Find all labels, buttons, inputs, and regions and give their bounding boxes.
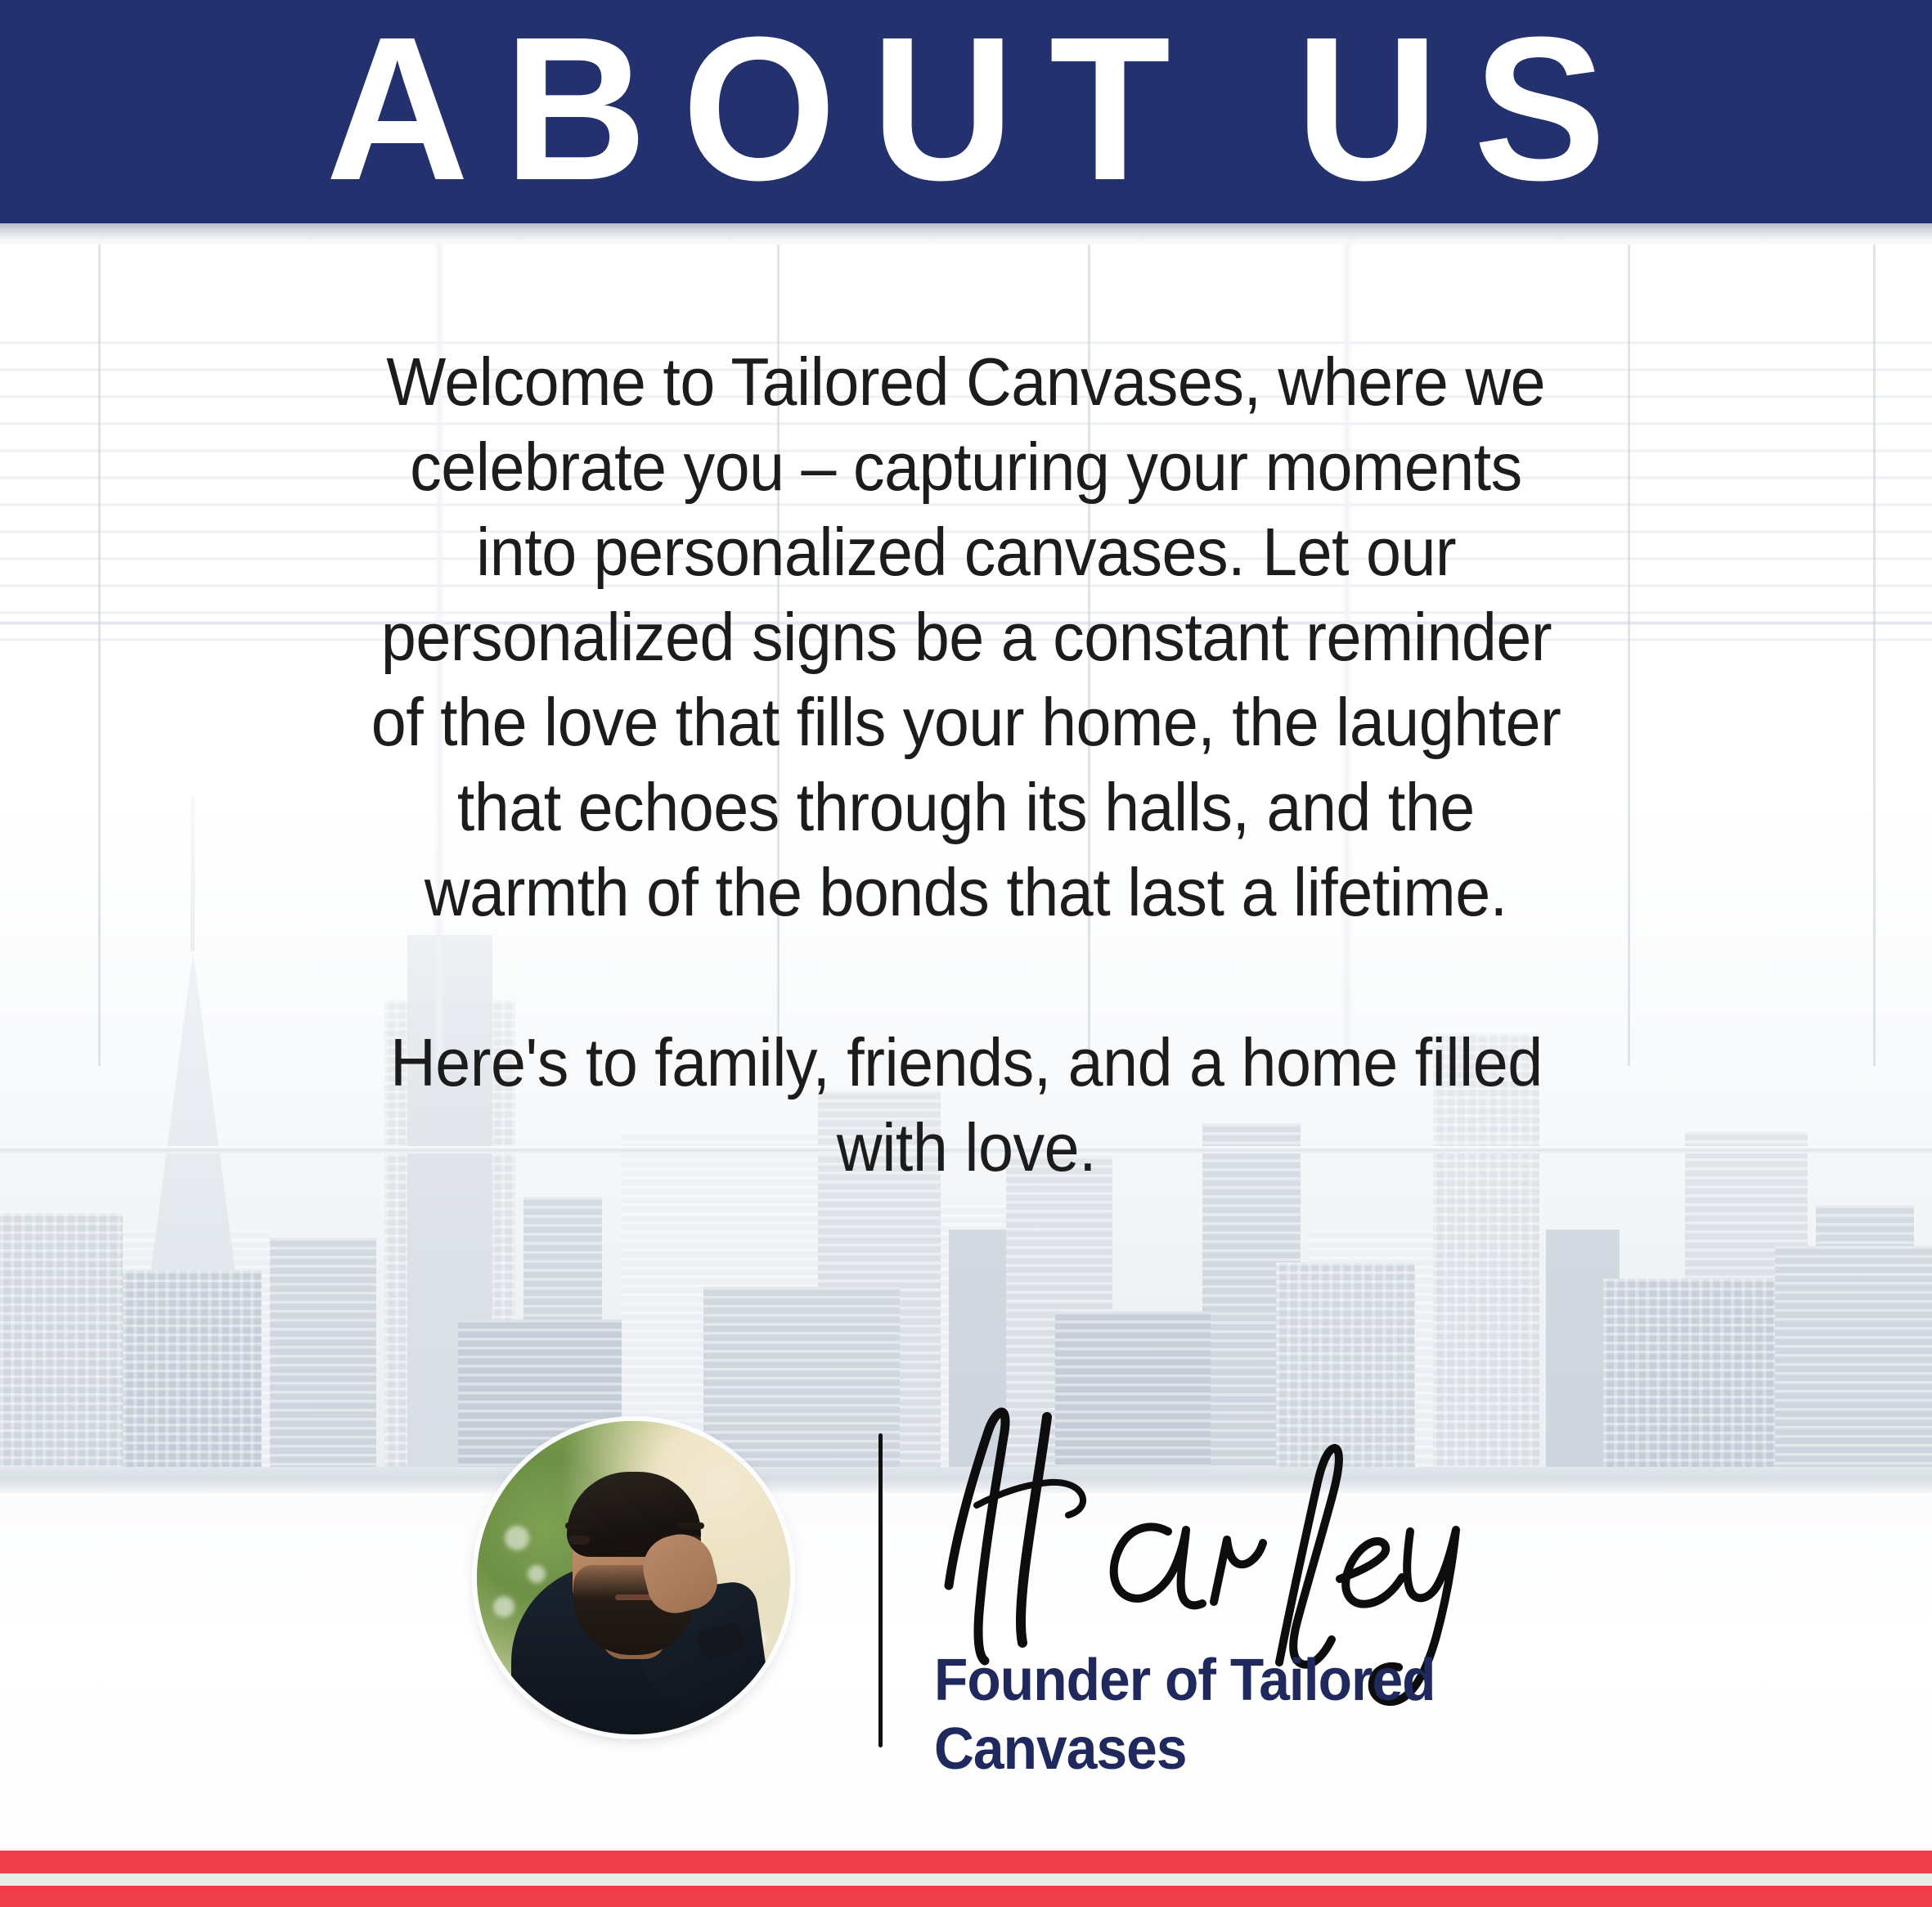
about-text-block: Welcome to Tailored Canvases, where we c… [258, 340, 1674, 1190]
avatar-eyebrow-right [676, 1522, 704, 1529]
footer-stripe-bottom [0, 1886, 1932, 1907]
founder-title-line-2: Canvases [934, 1715, 1588, 1783]
header-banner: ABOUT US [0, 0, 1932, 223]
copy-line: celebrate you – capturing your moments [258, 425, 1674, 510]
window-mullion-1 [98, 223, 101, 1066]
copy-line: Here's to family, friends, and a home fi… [258, 1020, 1674, 1105]
paragraph-spacer [258, 935, 1674, 1020]
pyramid-spire [191, 796, 195, 951]
footer-stripe-top [0, 1851, 1932, 1873]
about-us-card: ABOUT US Welcome to Tailored Canvases, w… [0, 0, 1932, 1907]
copy-line: warmth of the bonds that last a lifetime… [258, 850, 1674, 935]
avatar-eyebrow-left [565, 1522, 593, 1529]
page-title: ABOUT US [291, 7, 1642, 211]
avatar-mouth [615, 1594, 653, 1600]
copy-line: with love. [258, 1105, 1674, 1190]
copy-line: that echoes through its halls, and the [258, 765, 1674, 850]
avatar [477, 1421, 790, 1734]
copy-line: into personalized canvases. Let our [258, 510, 1674, 595]
avatar-eye-left [568, 1536, 590, 1545]
window-mullion-7 [1873, 223, 1876, 1066]
founder-title: Founder of Tailored Canvases [934, 1646, 1588, 1783]
founder-title-line-1: Founder of Tailored [934, 1646, 1588, 1715]
copy-line: of the love that fills your home, the la… [258, 680, 1674, 765]
copy-line: personalized signs be a constant reminde… [258, 595, 1674, 680]
copy-line: Welcome to Tailored Canvases, where we [258, 340, 1674, 425]
footer-stripe-gap [0, 1873, 1932, 1886]
header-shadow-strip [0, 223, 1932, 245]
signature-divider [878, 1433, 883, 1747]
